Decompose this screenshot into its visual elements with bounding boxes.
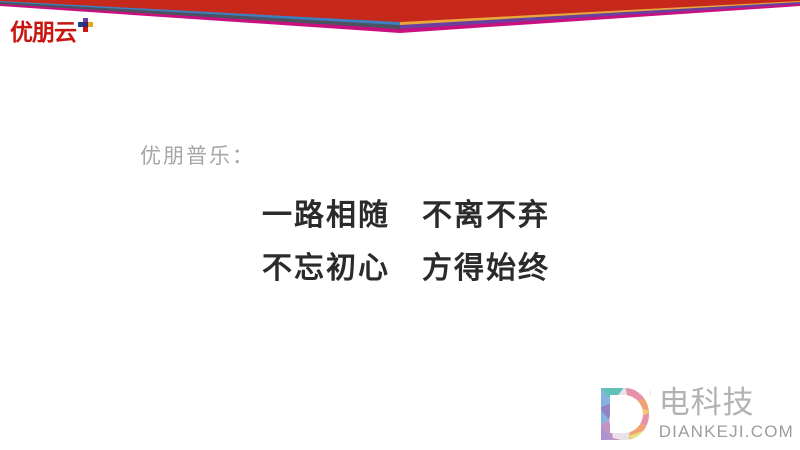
lead-label: 优朋普乐： (140, 140, 255, 170)
watermark-chinese-name: 电科技 (659, 386, 794, 420)
plus-square-orange (88, 22, 93, 27)
brand-logo[interactable]: 优朋云 (10, 20, 94, 48)
brand-plus-icon (78, 18, 94, 34)
headline-line-2: 不忘初心 方得始终 (262, 243, 550, 287)
watermark: ® 电科技 DIANKEJI.COM (599, 386, 794, 442)
slide-canvas: 优朋云 优朋普乐： 一路相随 不离不弃 不忘初心 方得始终 (0, 0, 800, 450)
registered-trademark-icon: ® (650, 388, 651, 398)
plus-square-red (83, 27, 88, 32)
headline-line-1: 一路相随 不离不弃 (262, 190, 550, 234)
top-chevron-banner (0, 0, 800, 40)
watermark-domain: DIANKEJI.COM (659, 422, 794, 442)
watermark-text-block: 电科技 DIANKEJI.COM (659, 386, 794, 442)
brand-logo-text: 优朋云 (10, 20, 76, 46)
diankeji-d-logo-icon: ® (599, 386, 651, 442)
